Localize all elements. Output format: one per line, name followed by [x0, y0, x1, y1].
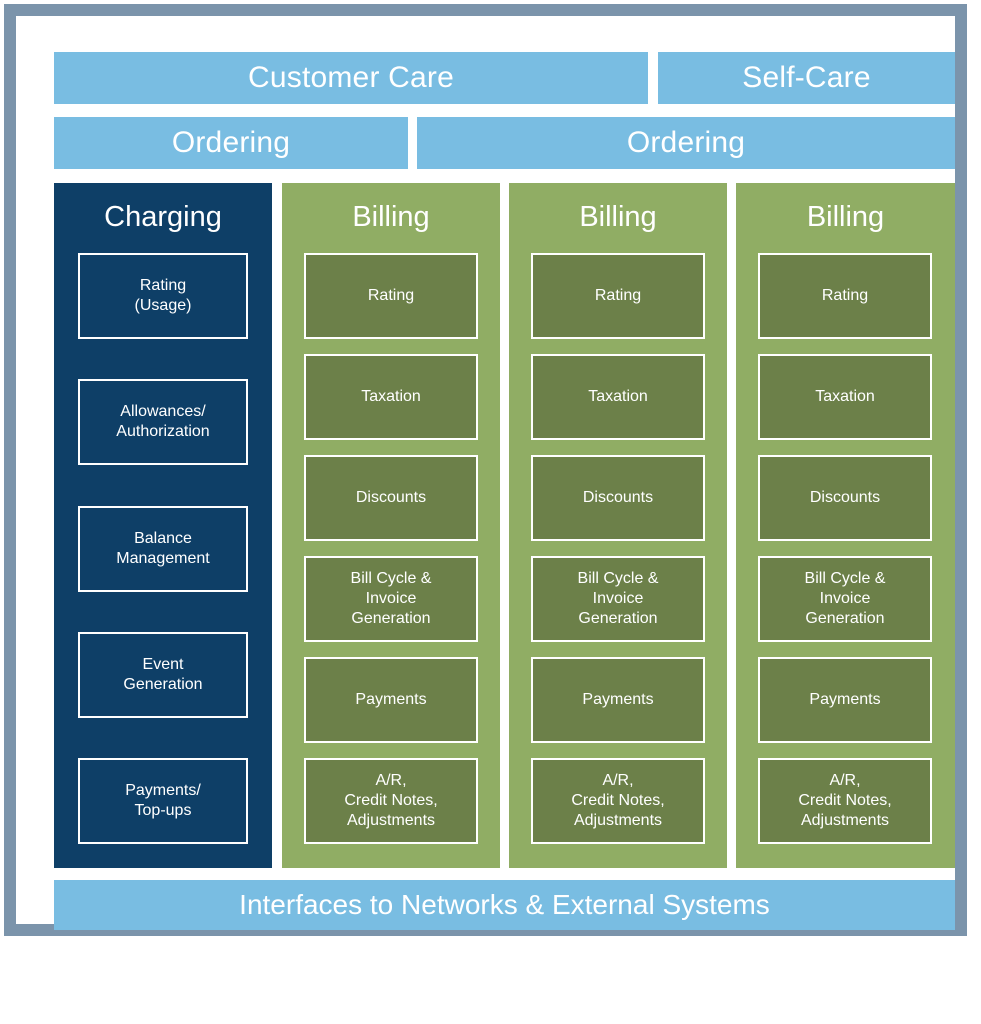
bottom-bar-interfaces[interactable]: Interfaces to Networks & External System… [54, 880, 955, 930]
diagram-canvas: Customer Care Self-Care Ordering Orderin… [16, 16, 955, 924]
top-bar-ordering-self[interactable]: Ordering [417, 117, 955, 169]
charging-item-rating-usage[interactable]: Rating (Usage) [78, 253, 248, 339]
top-bar-ordering-care[interactable]: Ordering [54, 117, 408, 169]
billing-1-item-bill-cycle-invoice-generation[interactable]: Bill Cycle & Invoice Generation [304, 556, 478, 642]
billing-1-item-ar-credit-notes-adjustments[interactable]: A/R, Credit Notes, Adjustments [304, 758, 478, 844]
billing-2-item-rating[interactable]: Rating [531, 253, 705, 339]
billing-2-item-payments[interactable]: Payments [531, 657, 705, 743]
top-bar-customer-care[interactable]: Customer Care [54, 52, 648, 104]
column-billing-1-title: Billing [282, 196, 500, 238]
billing-3-item-ar-credit-notes-adjustments[interactable]: A/R, Credit Notes, Adjustments [758, 758, 932, 844]
billing-1-item-rating[interactable]: Rating [304, 253, 478, 339]
billing-3-item-taxation[interactable]: Taxation [758, 354, 932, 440]
column-billing-1[interactable]: Billing Rating Taxation Discounts Bill C… [282, 183, 500, 868]
column-billing-2[interactable]: Billing Rating Taxation Discounts Bill C… [509, 183, 727, 868]
billing-1-item-payments[interactable]: Payments [304, 657, 478, 743]
column-billing-3-title: Billing [736, 196, 955, 238]
charging-item-balance-management[interactable]: Balance Management [78, 506, 248, 592]
charging-item-payments-topups[interactable]: Payments/ Top-ups [78, 758, 248, 844]
billing-3-item-discounts[interactable]: Discounts [758, 455, 932, 541]
top-bar-self-care[interactable]: Self-Care [658, 52, 955, 104]
column-billing-3[interactable]: Billing Rating Taxation Discounts Bill C… [736, 183, 955, 868]
column-billing-2-title: Billing [509, 196, 727, 238]
billing-3-item-rating[interactable]: Rating [758, 253, 932, 339]
column-charging-title: Charging [54, 196, 272, 238]
diagram-frame: Customer Care Self-Care Ordering Orderin… [4, 4, 967, 936]
billing-3-item-bill-cycle-invoice-generation[interactable]: Bill Cycle & Invoice Generation [758, 556, 932, 642]
column-charging[interactable]: Charging Rating (Usage) Allowances/ Auth… [54, 183, 272, 868]
billing-2-item-bill-cycle-invoice-generation[interactable]: Bill Cycle & Invoice Generation [531, 556, 705, 642]
billing-2-item-taxation[interactable]: Taxation [531, 354, 705, 440]
charging-item-event-generation[interactable]: Event Generation [78, 632, 248, 718]
billing-2-item-discounts[interactable]: Discounts [531, 455, 705, 541]
billing-2-item-ar-credit-notes-adjustments[interactable]: A/R, Credit Notes, Adjustments [531, 758, 705, 844]
billing-1-item-discounts[interactable]: Discounts [304, 455, 478, 541]
billing-1-item-taxation[interactable]: Taxation [304, 354, 478, 440]
billing-3-item-payments[interactable]: Payments [758, 657, 932, 743]
charging-item-allowances-authorization[interactable]: Allowances/ Authorization [78, 379, 248, 465]
